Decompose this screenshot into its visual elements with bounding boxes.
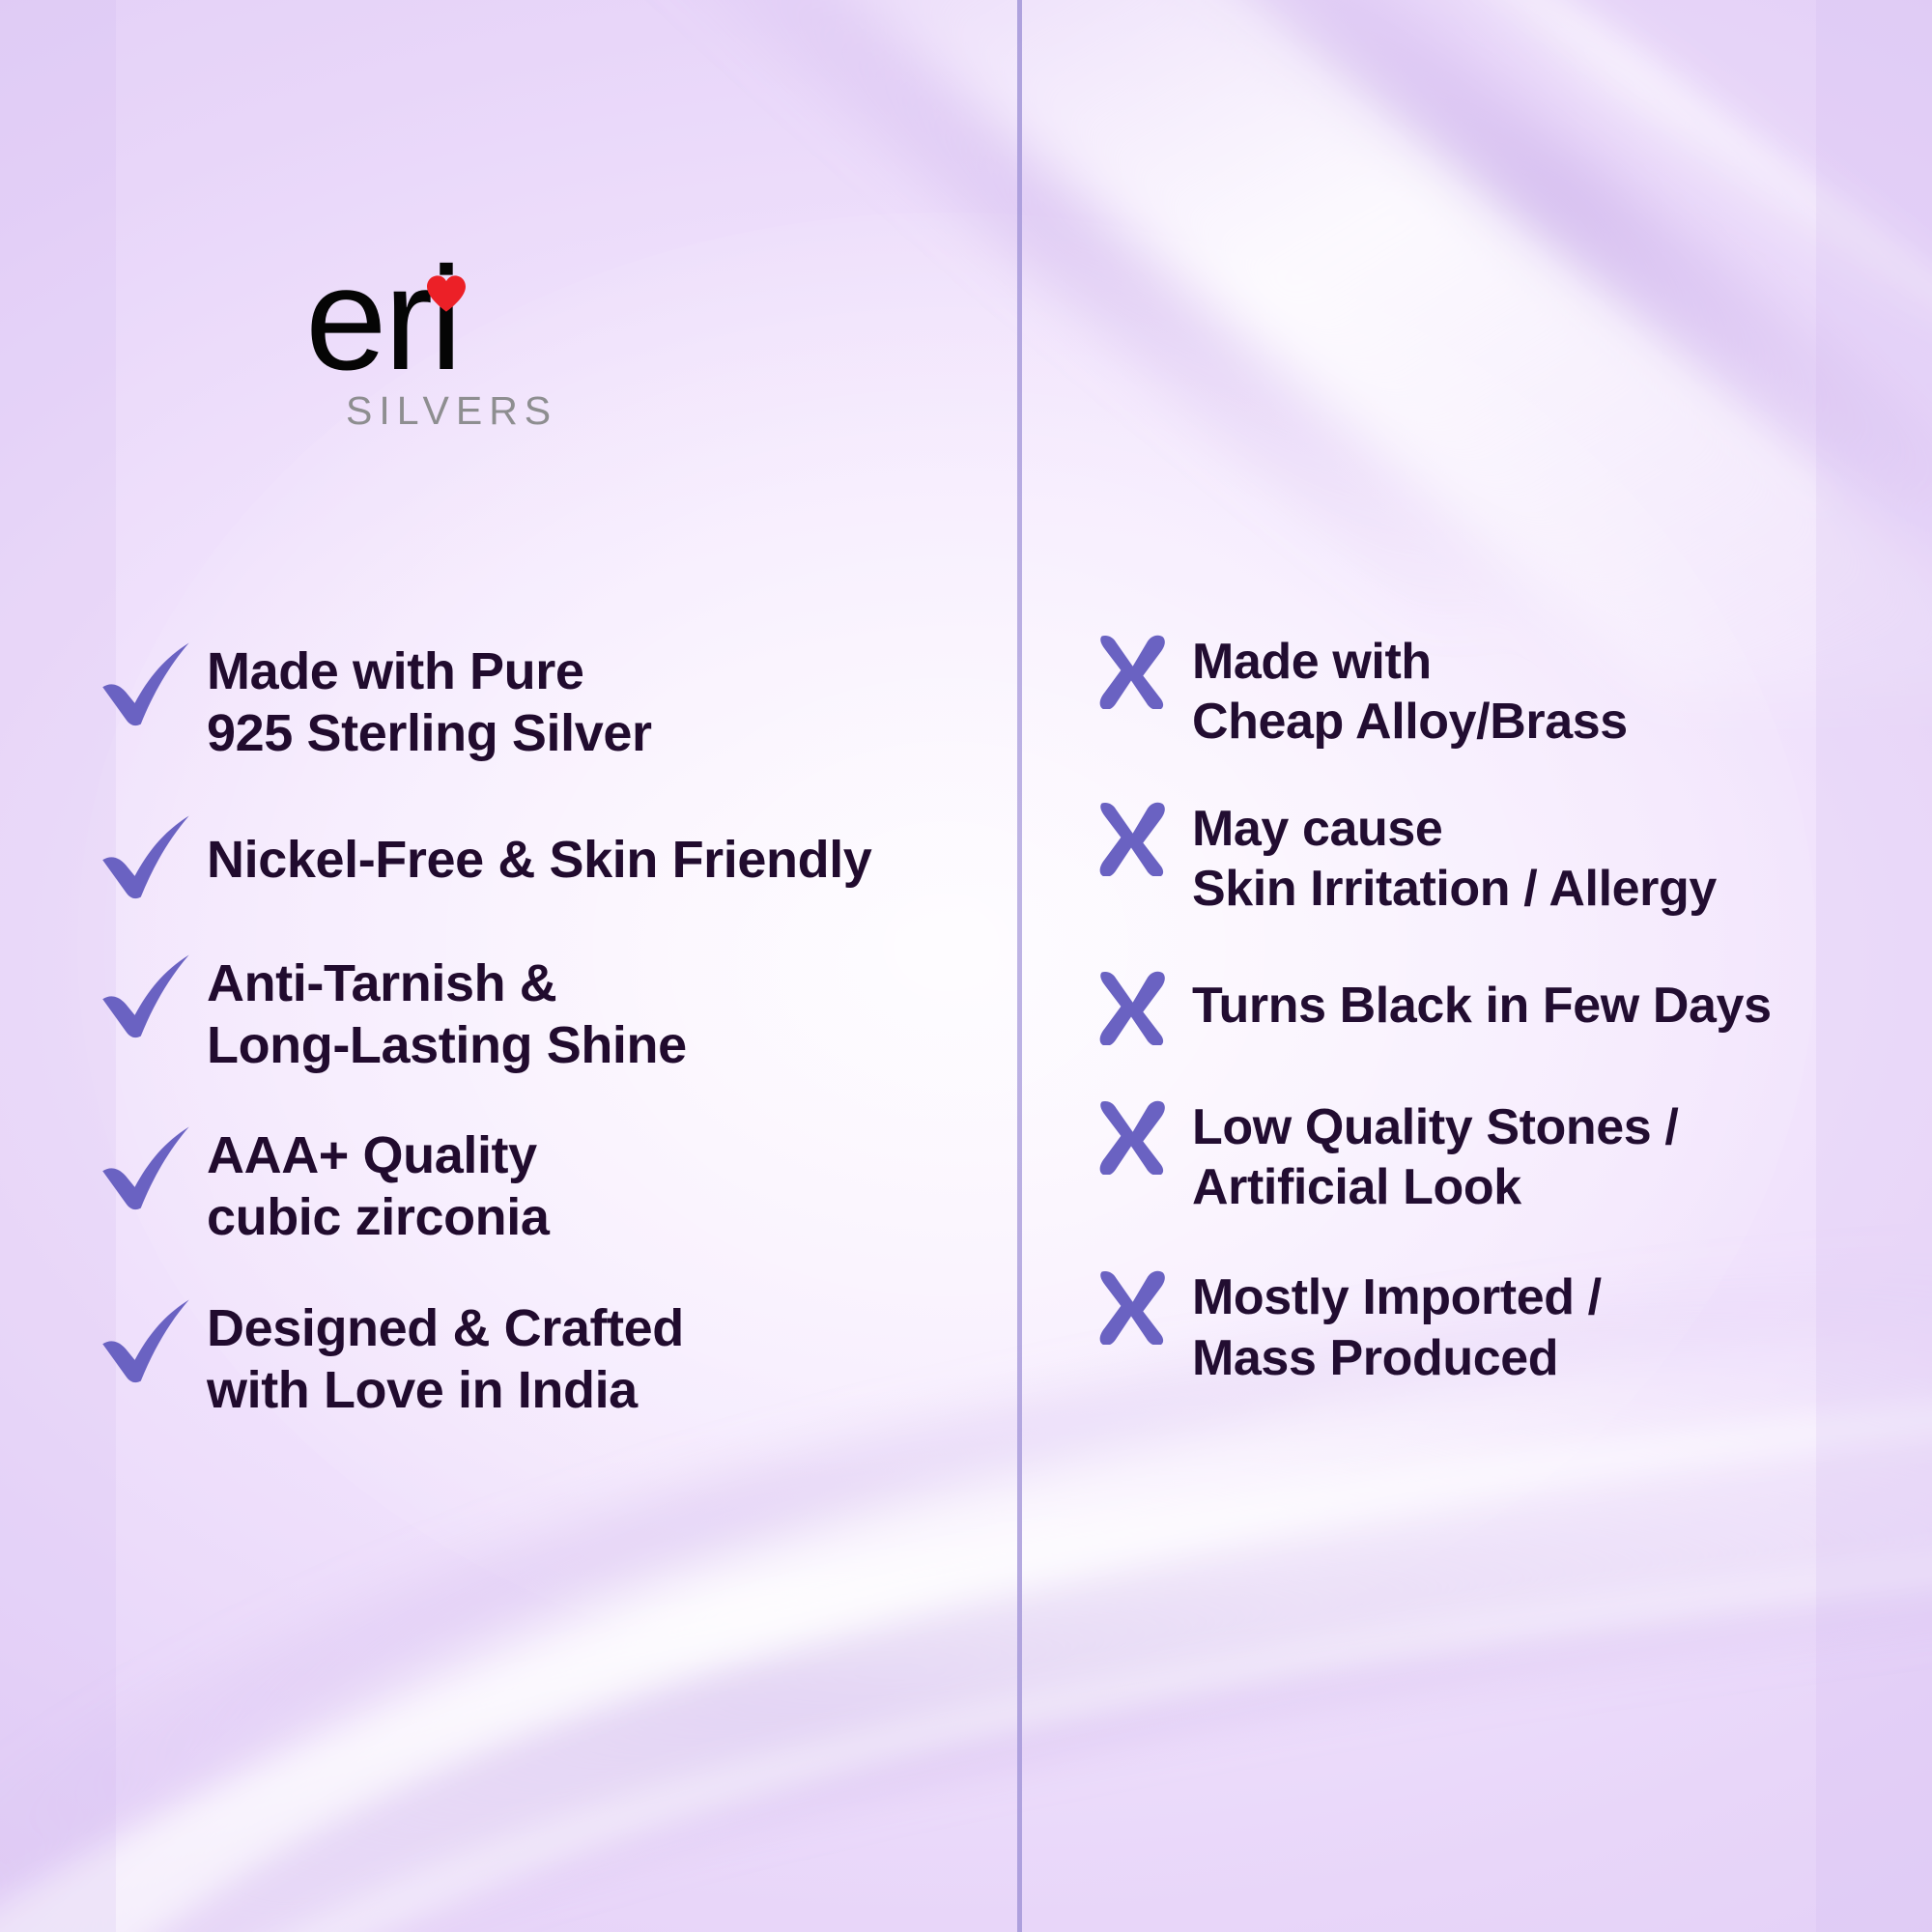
list-item-label: Mostly Imported /Mass Produced: [1192, 1264, 1602, 1388]
brand-column: eri SILVERS Made with Pure925 Sterling S…: [0, 0, 1017, 1932]
list-item: Low Quality Stones /Artificial Look: [1092, 1094, 1922, 1218]
list-item: Turns Black in Few Days: [1092, 964, 1922, 1045]
heart-icon: [425, 274, 468, 313]
logo-wordmark: eri: [305, 259, 460, 380]
check-icon: [97, 1116, 197, 1216]
list-item: Made with Pure925 Sterling Silver: [97, 638, 1005, 764]
cross-icon: [1092, 797, 1171, 876]
logo-wordmark-text: eri: [305, 237, 460, 401]
list-item: Nickel-Free & Skin Friendly: [97, 810, 1005, 905]
cross-icon: [1092, 1265, 1171, 1345]
check-icon: [97, 944, 197, 1044]
list-item-label: Low Quality Stones /Artificial Look: [1192, 1094, 1678, 1218]
list-item: Made withCheap Alloy/Brass: [1092, 628, 1922, 753]
competitor-feature-list: Made withCheap Alloy/Brass May causeSkin…: [1092, 628, 1922, 1429]
check-icon: [97, 632, 197, 732]
check-icon: [97, 1289, 197, 1389]
list-item: May causeSkin Irritation / Allergy: [1092, 795, 1922, 920]
list-item-label: May causeSkin Irritation / Allergy: [1192, 795, 1717, 920]
list-item-label: Anti-Tarnish &Long-Lasting Shine: [207, 950, 687, 1076]
list-item-label: Nickel-Free & Skin Friendly: [207, 826, 871, 892]
list-item: Designed & Craftedwith Love in India: [97, 1294, 1005, 1421]
list-item-label: Made withCheap Alloy/Brass: [1192, 628, 1628, 753]
list-item: Anti-Tarnish &Long-Lasting Shine: [97, 950, 1005, 1076]
comparison-infographic: eri SILVERS Made with Pure925 Sterling S…: [0, 0, 1932, 1932]
cross-icon: [1092, 966, 1171, 1045]
list-item-label: Turns Black in Few Days: [1192, 972, 1772, 1036]
brand-feature-list: Made with Pure925 Sterling Silver Nickel…: [97, 638, 1005, 1463]
list-item: AAA+ Qualitycubic zirconia: [97, 1122, 1005, 1248]
cross-icon: [1092, 630, 1171, 709]
cross-icon: [1092, 1095, 1171, 1175]
check-icon: [97, 805, 197, 905]
list-item: Mostly Imported /Mass Produced: [1092, 1264, 1922, 1388]
brand-logo: eri SILVERS: [305, 259, 595, 431]
list-item-label: Made with Pure925 Sterling Silver: [207, 638, 652, 764]
list-item-label: Designed & Craftedwith Love in India: [207, 1294, 684, 1421]
list-item-label: AAA+ Qualitycubic zirconia: [207, 1122, 550, 1248]
